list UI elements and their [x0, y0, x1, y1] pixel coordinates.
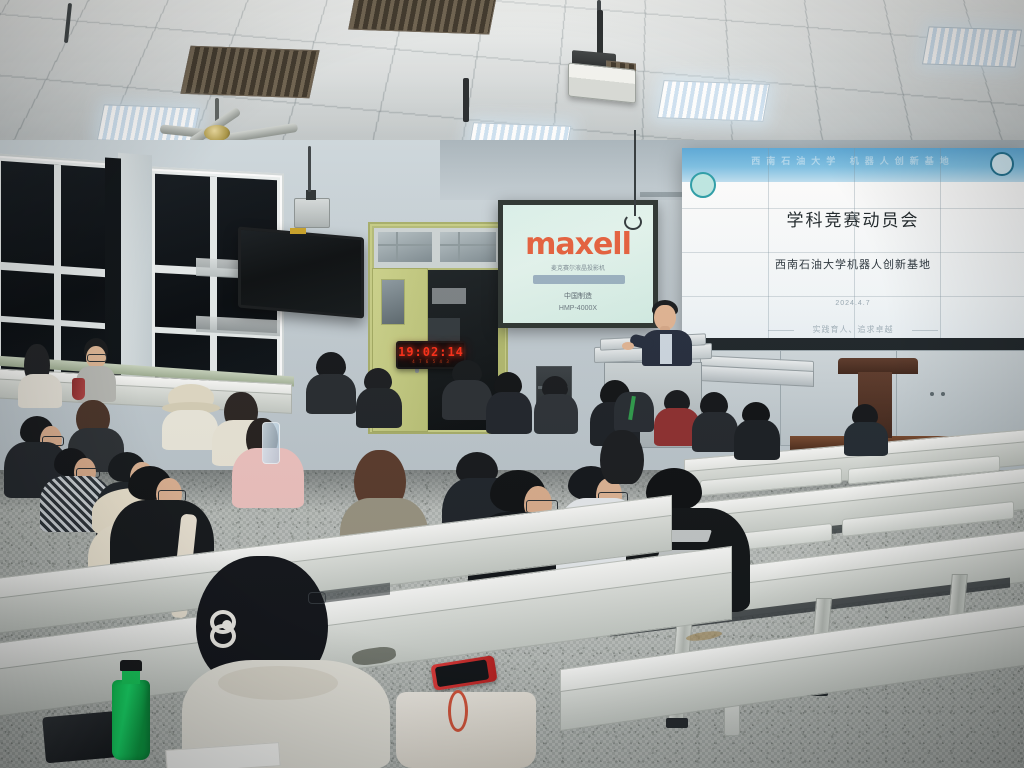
wall-mounted-display — [238, 226, 364, 318]
projector-caption-line1: 麦克赛尔液晶投影机 — [503, 263, 653, 272]
clear-water-bottle[interactable] — [262, 422, 280, 464]
clock-date: 4 7 6 5 4 3 — [412, 359, 450, 364]
fluorescent-panel — [97, 104, 200, 143]
student-body — [844, 422, 888, 456]
screen-pull-cord — [634, 130, 636, 216]
green-soda-bottle[interactable] — [112, 680, 150, 760]
panel-seam — [682, 208, 1024, 209]
transom-glass — [378, 232, 432, 262]
fluorescent-panel — [657, 80, 770, 122]
window-mullion — [54, 165, 61, 383]
slide-date: 2024.4.7 — [682, 300, 1024, 307]
lecture-hall-photo: 19:02:14 4 7 6 5 4 3 maxell 麦克赛尔液晶投影机 中国… — [0, 0, 1024, 768]
white-hair-bow — [210, 610, 244, 642]
student-body — [486, 392, 532, 434]
bottle-cap — [120, 660, 142, 671]
panel-seam — [854, 148, 855, 340]
projector — [568, 62, 636, 103]
maxell-logo: maxell — [503, 227, 653, 262]
student-body — [356, 388, 402, 428]
slide-header-band: 西南石油大学 机器人创新基地 — [682, 148, 1024, 182]
cabinet-knob[interactable] — [941, 392, 945, 396]
transom-bar — [378, 244, 432, 246]
projector-mount — [597, 10, 603, 58]
hallway-light — [432, 288, 466, 304]
slide-motto: 实践育人、追求卓越 — [682, 324, 1024, 335]
red-drink-cup[interactable] — [72, 378, 85, 400]
student-hair — [600, 430, 644, 484]
tote-handle — [448, 690, 468, 732]
transom-bar — [440, 244, 496, 246]
window-pillar — [118, 153, 152, 393]
dark-ceiling-panel — [348, 0, 498, 34]
slide-watermark: 西南石油大学 机器人创新基地 — [682, 154, 1024, 167]
slide-body: 学科竞赛动员会 西南石油大学机器人创新基地 2024.4.7 实践育人、追求卓越 — [682, 182, 1024, 340]
student-body — [692, 412, 738, 452]
student-body — [442, 380, 492, 420]
student-body — [162, 410, 218, 450]
presenter — [632, 300, 702, 370]
projector-progress-bar — [533, 275, 625, 284]
wall-speaker — [294, 198, 330, 228]
phone-screen[interactable] — [435, 659, 489, 687]
slide-subtitle: 西南石油大学机器人创新基地 — [682, 256, 1024, 272]
fluorescent-panel — [922, 26, 1022, 67]
student-body — [534, 394, 578, 434]
tv-bracket — [290, 228, 306, 234]
presenter-shirt-front — [660, 334, 672, 364]
projector-caption-line2: 中国制造 — [503, 291, 653, 301]
window-mullion — [210, 177, 217, 385]
slide-title: 学科竞赛动员会 — [682, 206, 1024, 231]
institute-seal-icon — [690, 172, 716, 198]
projector-model: HMP-4000X — [503, 305, 653, 312]
cabinet-knob[interactable] — [930, 392, 934, 396]
transom-bar — [458, 232, 460, 262]
door-transom — [372, 226, 504, 270]
panel-seam — [940, 148, 941, 340]
ceiling-fan-hub — [204, 125, 230, 141]
door-window — [381, 279, 405, 325]
student-body — [734, 420, 780, 460]
panel-seam — [682, 252, 1024, 253]
student-glasses-arm — [308, 592, 326, 604]
transom-bar — [396, 232, 398, 262]
university-seal-icon — [990, 152, 1014, 176]
dark-ceiling-panel — [180, 46, 319, 99]
student-body — [306, 374, 356, 414]
desk-row-second — [0, 538, 670, 628]
panel-seam — [768, 148, 769, 340]
transom-glass — [440, 232, 496, 262]
panel-seam — [682, 296, 1024, 297]
conduit — [308, 146, 311, 192]
bow-knot — [222, 620, 232, 630]
student-body — [18, 374, 62, 408]
projector-mount — [463, 78, 469, 122]
hoodie-collar — [218, 666, 338, 700]
cord-hook — [624, 214, 642, 230]
window-dark-gap — [105, 157, 121, 394]
presenter-hand — [622, 342, 634, 350]
main-led-screen: 西南石油大学 机器人创新基地 学科竞赛动员会 西南石油大学机器人创新基地 202… — [682, 148, 1024, 340]
clock-time: 19:02:14 — [398, 346, 464, 358]
student-glasses — [87, 354, 107, 362]
